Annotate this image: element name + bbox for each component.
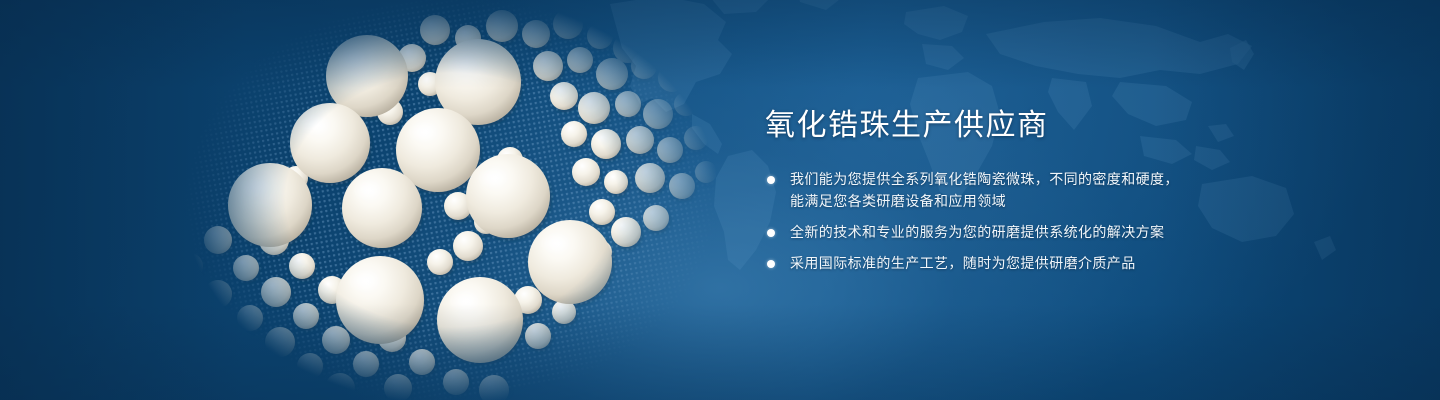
hero-banner: 氧化锆珠生产供应商 我们能为您提供全系列氧化锆陶瓷微珠，不同的密度和硬度， 能满… xyxy=(0,0,1440,400)
banner-vignette xyxy=(0,0,1440,400)
